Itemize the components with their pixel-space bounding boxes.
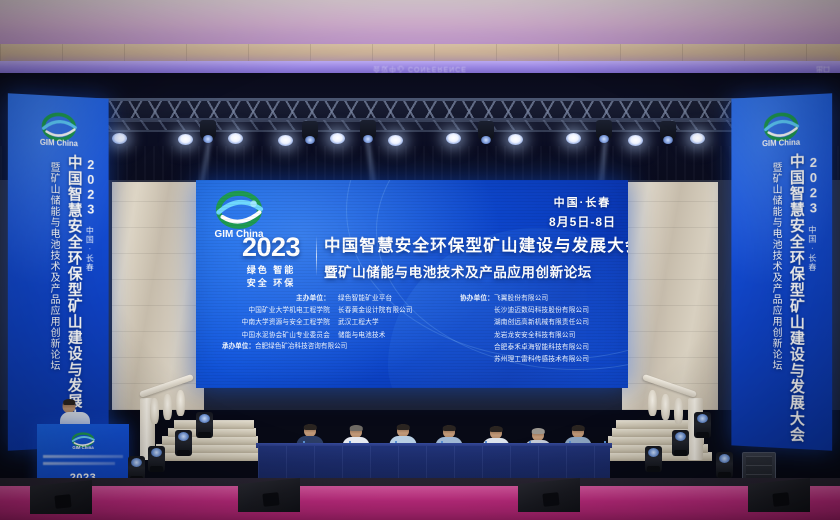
banner-right-location: 中国·长春	[807, 225, 818, 272]
banner-left-year: 2023	[84, 157, 97, 217]
podium-speaker-head	[63, 399, 76, 413]
floor-moving-head-right-3	[694, 412, 711, 438]
par-light-11	[690, 133, 705, 144]
floor-moving-head-right-2	[672, 430, 689, 456]
screen-title-main: 中国智慧安全环保型矿山建设与发展大会	[324, 237, 622, 256]
support-item-5: 苏州理工雷科传感技术有限公司	[460, 354, 610, 366]
baluster-right-3	[674, 398, 683, 424]
par-light-9	[566, 133, 581, 144]
par-light-3	[228, 133, 243, 144]
undertaker-label: 承办单位：	[222, 343, 255, 350]
podium-text-line-1	[43, 455, 123, 458]
screen-location-city: 中国·长春	[549, 194, 616, 210]
undertaker-line: 承办单位：合肥绿色矿冶科技咨询有限公司	[222, 340, 347, 350]
ceiling	[0, 0, 840, 48]
stair-left-1	[150, 452, 262, 461]
support-item-4: 合肥泰禾卓海智能科技有限公司	[460, 342, 610, 354]
screen-title-block: 中国智慧安全环保型矿山建设与发展大会 暨矿山储能与电池技术及产品应用创新论坛	[324, 237, 622, 281]
host-col2-item-3: 储能与电池技术	[338, 330, 438, 342]
banner-right-title-sub: 暨矿山储能与电池技术及产品应用创新论坛	[770, 162, 780, 371]
support-item-1: 长沙迪迈数码科技股份有限公司	[460, 305, 610, 317]
moving-head-truss-4	[478, 121, 494, 141]
panelist-4-hair	[443, 425, 456, 431]
stair-right-5	[616, 420, 696, 429]
baluster-left-3	[176, 390, 185, 416]
par-light-1	[112, 133, 127, 144]
venue-sign-top: 会议中心 CONFERENCE	[0, 63, 840, 73]
organizer-col-support: 协办单位：飞翼股份有限公司 长沙迪迈数码科技股份有限公司 湖南创远高新机械有限责…	[438, 293, 610, 366]
stair-left-2	[156, 444, 260, 453]
banner-right-title-main: 中国智慧安全环保型矿山建设与发展大会	[789, 153, 804, 443]
host-col2-item-1: 长春黄金设计院有限公司	[338, 305, 438, 317]
marble-wall-right	[622, 182, 718, 410]
venue-sign-right: 出口	[816, 63, 830, 73]
floor-moving-head-far-right	[716, 452, 733, 478]
gim-logo-left-banner: GIM China	[33, 109, 84, 151]
host-col1-item-2: 中南大学资源与安全工程学院	[222, 317, 330, 329]
screen-title-sub: 暨矿山储能与电池技术及产品应用创新论坛	[324, 261, 622, 281]
screen-organizers: 主办单位： 中国矿业大学机电工程学院 中南大学资源与安全工程学院 中国水泥协会矿…	[222, 293, 618, 366]
support-item-3: 龙岩龙安安全科技有限公司	[460, 330, 610, 342]
baluster-left-1	[150, 398, 159, 424]
screen-location-date: 8月5日-8日	[549, 213, 616, 230]
podium-text-line-2	[43, 462, 115, 465]
svg-text:GIM China: GIM China	[72, 445, 94, 450]
organizer-col-host-label: 主办单位： 中国矿业大学机电工程学院 中南大学资源与安全工程学院 中国水泥协会矿…	[222, 293, 330, 366]
moving-head-truss-5	[596, 120, 612, 140]
banner-left-location: 中国·长春	[84, 226, 95, 272]
screen-year-block: 2023 绿色 智能 安全 环保	[232, 234, 310, 290]
par-light-6	[388, 135, 403, 146]
panelist-2-hair	[350, 425, 363, 431]
par-light-5	[330, 133, 345, 144]
moving-head-truss-1	[200, 120, 216, 140]
panelist-7-hair	[572, 425, 585, 431]
par-light-8	[508, 134, 523, 145]
par-light-10	[628, 135, 643, 146]
floor-moving-head-left-2	[175, 430, 192, 456]
baluster-right-1	[648, 390, 657, 416]
host-col1-item-0: 绿色智能矿业平台	[338, 293, 438, 305]
gim-logo-right-banner: GIM China	[756, 109, 807, 151]
support-item-0: 飞翼股份有限公司	[494, 295, 548, 302]
screen-slogan-line2: 安全 环保	[232, 277, 310, 290]
host-col2-item-2: 武汉工程大学	[338, 317, 438, 329]
floor-moving-head-right-1	[645, 446, 662, 472]
support-label: 协办单位：	[460, 295, 494, 302]
par-light-4	[278, 135, 293, 146]
host-col1-item-1: 中国矿业大学机电工程学院	[222, 305, 330, 317]
podium-speaker-hair	[63, 399, 76, 405]
panelist-1-hair	[304, 424, 317, 430]
baluster-right-2	[661, 394, 670, 420]
undertaker-name: 合肥绿色矿冶科技咨询有限公司	[255, 343, 347, 350]
moving-head-truss-2	[302, 121, 318, 141]
panelist-3-hair	[397, 424, 410, 430]
banner-right-text: 2023 中国·长春 中国智慧安全环保型矿山建设与发展大会 暨矿山储能与电池技术…	[731, 152, 832, 451]
banner-left-title-sub: 暨矿山储能与电池技术及产品应用创新论坛	[48, 162, 58, 372]
panelist-6-hair	[532, 428, 545, 434]
par-light-2	[178, 134, 193, 145]
carpet-gloss	[0, 486, 840, 520]
screen-slogan-line1: 绿色 智能	[232, 264, 310, 277]
screen-location-block: 中国·长春 8月5日-8日	[549, 194, 616, 230]
screen-slogan: 绿色 智能 安全 环保	[232, 264, 310, 290]
stair-left-5	[174, 420, 254, 429]
ceiling-cornice	[0, 44, 840, 62]
main-led-screen: GIM China 中国·长春 8月5日-8日 2023 绿色 智能 安全 环保…	[196, 180, 628, 388]
svg-text:GIM China: GIM China	[40, 138, 79, 148]
svg-text:GIM China: GIM China	[762, 138, 801, 149]
panelist-5-hair	[490, 426, 503, 432]
baluster-left-2	[163, 394, 172, 420]
organizer-col-host-names: 绿色智能矿业平台 长春黄金设计院有限公司 武汉工程大学 储能与电池技术	[330, 293, 438, 366]
screen-title-divider	[316, 236, 317, 276]
par-light-7	[446, 133, 461, 144]
support-item-2: 湖南创远高新机械有限责任公司	[460, 317, 610, 329]
conference-stage-photo: 会议中心 CONFERENCE 出口 GIM China 2023	[0, 0, 840, 520]
gim-logo-podium: GIM China	[63, 432, 103, 450]
moving-head-truss-3	[360, 120, 376, 140]
screen-year: 2023	[232, 234, 310, 261]
host-label: 主办单位：	[222, 293, 330, 305]
moving-head-truss-6	[660, 121, 676, 141]
floor-moving-head-left-1	[148, 446, 165, 472]
banner-right-year: 2023	[807, 155, 820, 216]
floor-moving-head-left-3	[196, 412, 213, 438]
side-banner-right: GIM China 2023 中国·长春 中国智慧安全环保型矿山建设与发展大会 …	[731, 93, 832, 450]
